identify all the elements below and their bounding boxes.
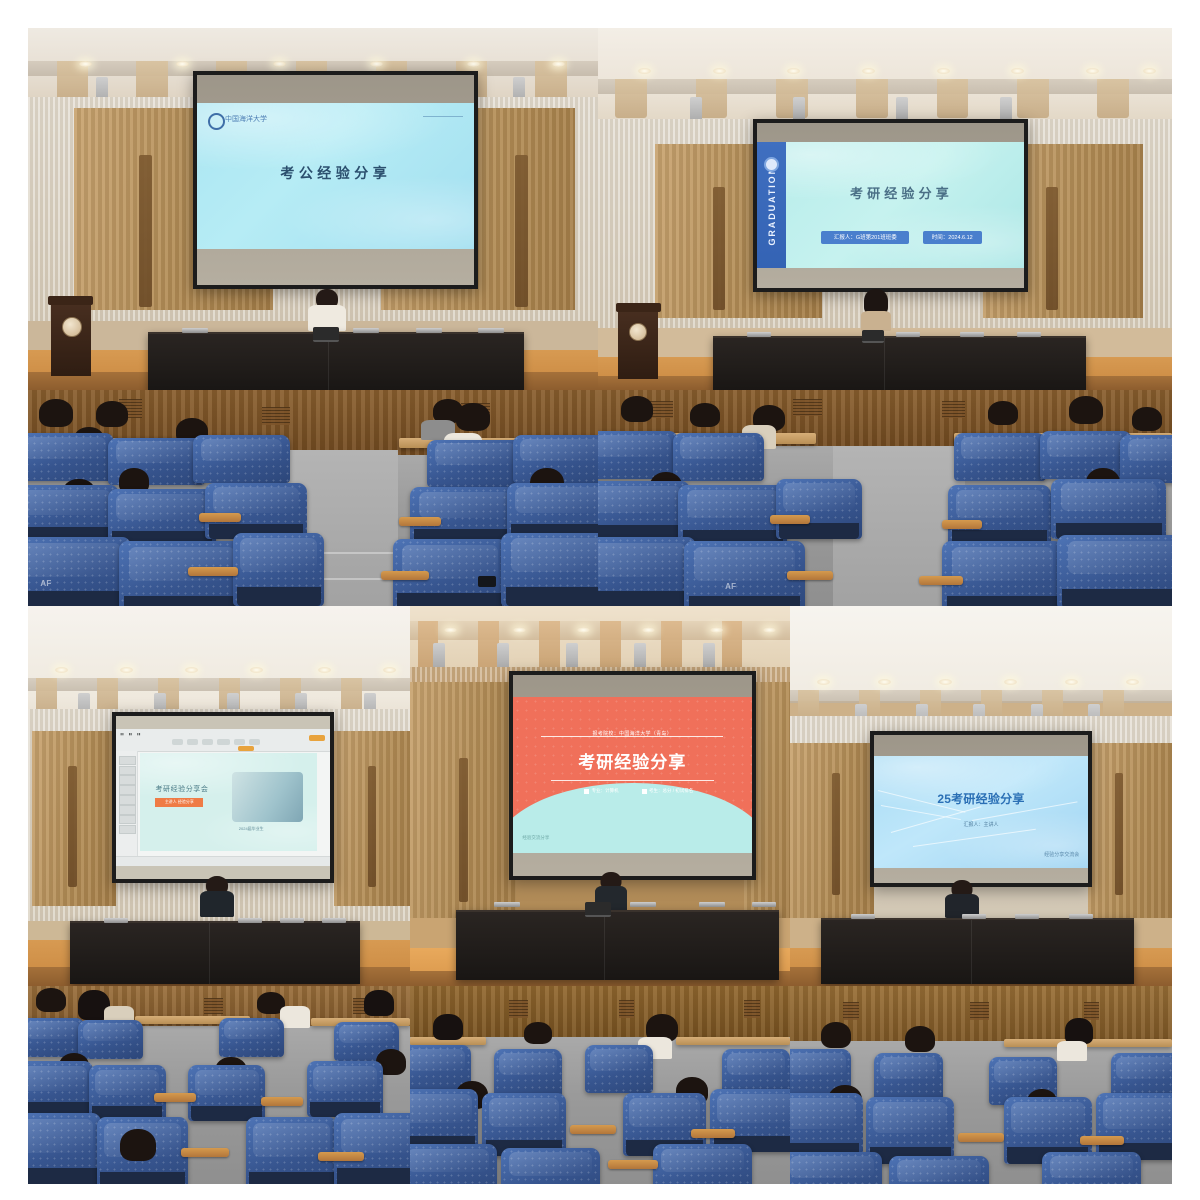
ppt-tool-6[interactable] [249, 739, 260, 745]
ppt-slide-title: 考研经验分享会 [155, 784, 208, 794]
photo-collage: 中国海洋大学 考公经验分享 [28, 28, 1172, 1172]
slide-legend-right: 考生：总分 / 初试排名 [649, 788, 693, 794]
ppt-slide-thumb[interactable] [119, 825, 136, 835]
slide-headline: 考研经验分享 [513, 748, 752, 773]
ppt-save-button[interactable] [238, 746, 254, 751]
projection-screen: 中国海洋大学 考公经验分享 [193, 71, 478, 288]
ppt-tool-5[interactable] [234, 739, 245, 745]
ppt-slide-thumb[interactable] [119, 756, 136, 766]
ppt-slide-thumb[interactable] [119, 815, 136, 825]
head-table [821, 918, 1134, 985]
slide-logo-text: 中国海洋大学 [225, 114, 267, 124]
slide-title: 考公经验分享 [197, 163, 474, 183]
laptop [585, 902, 611, 917]
ppt-slide-thumb[interactable] [119, 785, 136, 795]
ppt-slide-thumb[interactable] [119, 795, 136, 805]
projection-screen: 25考研经验分享 汇报人：主讲人 经验分享交流会 [870, 731, 1092, 887]
projection-screen: GRADUATION 考研经验分享 汇报人：G班第201班班委 时间：2024.… [753, 119, 1029, 293]
ppt-tool-3[interactable] [202, 739, 213, 745]
seat-logo: AF [40, 579, 51, 588]
ppt-tab-file[interactable]: ▮▮ [120, 732, 123, 736]
panel-3-stage-photo: ▮▮ ▮▮ ▮▮ [28, 606, 410, 986]
projection-screen: 报考院校：中国海洋大学（青岛） 考研经验分享 专业：计算机 考生：总分 / 初试… [509, 671, 756, 880]
slide-top-line: 报考院校：中国海洋大学（青岛） [513, 730, 752, 737]
ppt-tool-4[interactable] [217, 739, 230, 745]
powerpoint-window: ▮▮ ▮▮ ▮▮ [116, 729, 330, 866]
laptop [313, 327, 339, 342]
ppt-slide-panel[interactable] [116, 751, 138, 861]
audience-band-2 [28, 986, 1172, 1184]
presenter-chip: 汇报人：G班第201班班委 [821, 231, 909, 245]
collage-row-2: ▮▮ ▮▮ ▮▮ [28, 606, 1172, 1184]
ppt-slide-thumb[interactable] [119, 766, 136, 776]
ppt-tab-insert[interactable]: ▮▮ [137, 732, 140, 736]
date-chip: 时间：2024.6.12 [923, 231, 982, 245]
podium [51, 296, 91, 376]
ppt-tool-2[interactable] [187, 739, 198, 745]
ppt-slide-watermark: 2024届毕业生 [239, 826, 264, 832]
ppt-present-button[interactable] [309, 735, 325, 741]
ppt-slide-thumb[interactable] [119, 775, 136, 785]
audience-band-1: AF [28, 390, 1172, 606]
ppt-tab-home[interactable]: ▮▮ [129, 732, 132, 736]
graduation-ribbon-text: GRADUATION [767, 166, 777, 246]
seat-logo-secondary: AF [725, 582, 736, 591]
ppt-slide-chip: 主讲人 经验分享 [155, 798, 203, 807]
audience-photo-row2-left [28, 986, 410, 1184]
ppt-slide-canvas[interactable]: 考研经验分享会 主讲人 经验分享 2024届毕业生 [140, 753, 317, 852]
head-table [713, 336, 1086, 390]
collage-row-1: 中国海洋大学 考公经验分享 [28, 28, 1172, 606]
audience-photo-row2-right [790, 986, 1172, 1184]
panel-4-stage-photo: 报考院校：中国海洋大学（青岛） 考研经验分享 专业：计算机 考生：总分 / 初试… [410, 606, 790, 986]
panel-2-stage-photo: GRADUATION 考研经验分享 汇报人：G班第201班班委 时间：2024.… [598, 28, 1172, 390]
panel-1-stage-photo: 中国海洋大学 考公经验分享 [28, 28, 598, 390]
slide-corner-text: 经验分享交流会 [1044, 851, 1079, 858]
laptop [862, 330, 884, 343]
ppt-tool-1[interactable] [172, 739, 183, 745]
audience-photo-right: AF [598, 390, 1172, 606]
head-table [70, 921, 360, 984]
podium [618, 303, 658, 379]
slide-legend-left: 专业：计算机 [592, 788, 619, 794]
slide-subtitle: 汇报人：主讲人 [874, 821, 1088, 828]
slide-title: 25考研经验分享 [874, 790, 1088, 807]
audience-photo-row2-center [410, 986, 790, 1184]
slide-footer: 经验交流分享 [522, 835, 549, 841]
head-table [456, 910, 779, 980]
panel-5-stage-photo: 25考研经验分享 汇报人：主讲人 经验分享交流会 [790, 606, 1172, 986]
ppt-slide-thumb[interactable] [119, 805, 136, 815]
audience-photo-left: AF [28, 390, 598, 606]
slide-title: 考研经验分享 [757, 183, 1025, 202]
projection-screen: ▮▮ ▮▮ ▮▮ [112, 712, 334, 883]
